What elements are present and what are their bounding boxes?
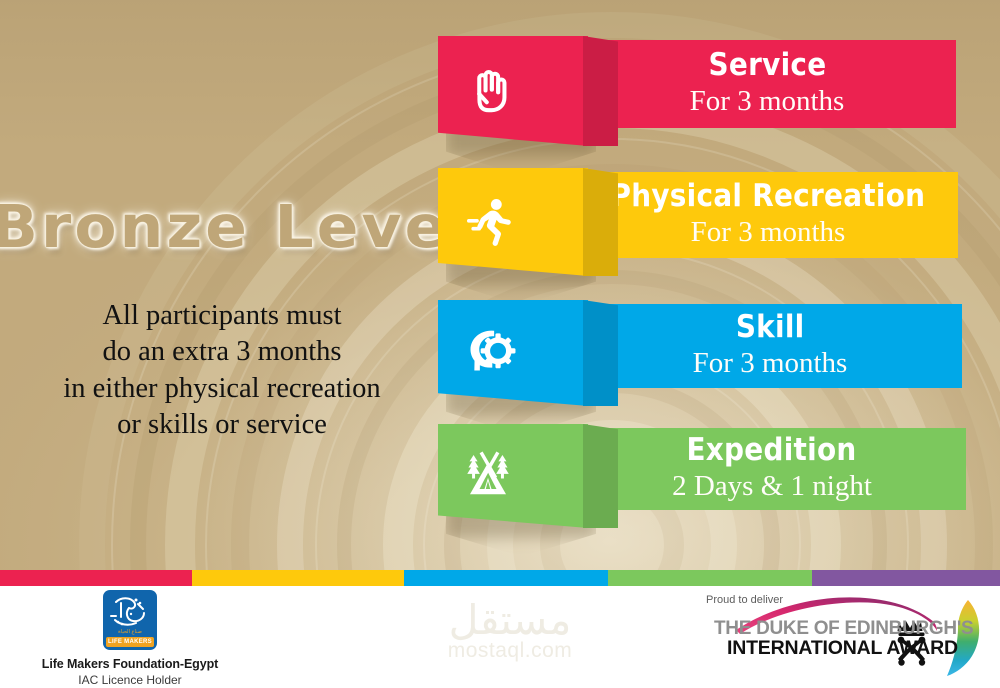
head-gear-icon	[460, 323, 516, 379]
ribbon-bar: Expedition 2 Days & 1 night	[578, 428, 966, 510]
ribbon-subtitle: For 3 months	[690, 85, 845, 117]
tent-icon	[460, 446, 516, 502]
description-text: All participants must do an extra 3 mont…	[0, 298, 444, 444]
description-line: in either physical recreation	[0, 371, 444, 407]
ribbon-subtitle: 2 Days & 1 night	[672, 470, 872, 502]
svg-text:صناع الحياة: صناع الحياة	[118, 629, 142, 635]
ribbon-fold	[583, 168, 618, 276]
ribbon-expedition[interactable]: Expedition 2 Days & 1 night	[438, 424, 968, 528]
ribbon-fold	[583, 424, 618, 528]
life-makers-subtitle: IAC Licence Holder	[24, 673, 236, 687]
page-title: Bronze Level	[0, 196, 453, 258]
life-makers-band: LIFE MAKERS	[106, 637, 154, 647]
footer: صناع الحياة LIFE MAKERS Life Makers Foun…	[0, 570, 1000, 688]
mostaql-watermark: مستقل mostaql.com	[430, 600, 590, 663]
life-makers-name: Life Makers Foundation-Egypt	[24, 657, 236, 671]
mostaql-latin: mostaql.com	[430, 639, 590, 663]
dofe-logo-block: Proud to deliver THE DUKE OF EDINBURGH'S…	[700, 592, 988, 684]
description-line: do an extra 3 months	[0, 334, 444, 370]
mostaql-arabic: مستقل	[430, 600, 590, 641]
running-person-icon	[460, 192, 516, 248]
hand-icon	[460, 61, 516, 117]
ribbon-bar: Skill For 3 months	[578, 304, 962, 388]
ribbon-fold	[583, 300, 618, 406]
color-stripe	[0, 570, 1000, 586]
ribbon-title: Expedition	[687, 435, 857, 466]
life-makers-block: صناع الحياة LIFE MAKERS Life Makers Foun…	[24, 590, 236, 687]
ribbon-physical-recreation[interactable]: Physical Recreation For 3 months	[438, 168, 960, 276]
ribbon-title: Physical Recreation	[611, 181, 926, 212]
infographic-page: Bronze Level All participants must do an…	[0, 0, 1000, 688]
left-text-column: Bronze Level All participants must do an…	[0, 196, 444, 444]
ribbon-skill[interactable]: Skill For 3 months	[438, 300, 964, 406]
ribbon-title: Service	[708, 50, 826, 81]
ribbon-service[interactable]: Service For 3 months	[438, 36, 958, 146]
ribbon-title: Skill	[736, 312, 805, 343]
description-line: All participants must	[0, 298, 444, 334]
life-makers-logo: صناع الحياة LIFE MAKERS	[103, 590, 157, 650]
ribbon-fold	[583, 36, 618, 146]
ribbon-bar: Physical Recreation For 3 months	[578, 172, 958, 258]
ribbon-subtitle: For 3 months	[693, 347, 848, 379]
description-line: or skills or service	[0, 407, 444, 443]
stripe-segment-yellow	[192, 570, 404, 586]
stripe-segment-purple	[812, 570, 1000, 586]
stripe-segment-green	[608, 570, 812, 586]
ribbon-subtitle: For 3 months	[691, 216, 846, 248]
ribbon-bar: Service For 3 months	[578, 40, 956, 128]
stripe-segment-pink	[0, 570, 192, 586]
stripe-segment-blue	[404, 570, 608, 586]
dofe-line2: INTERNATIONAL AWARD	[727, 637, 958, 660]
arabic-calligraphy-icon: صناع الحياة	[103, 590, 157, 638]
dofe-proud-text: Proud to deliver	[706, 594, 783, 606]
